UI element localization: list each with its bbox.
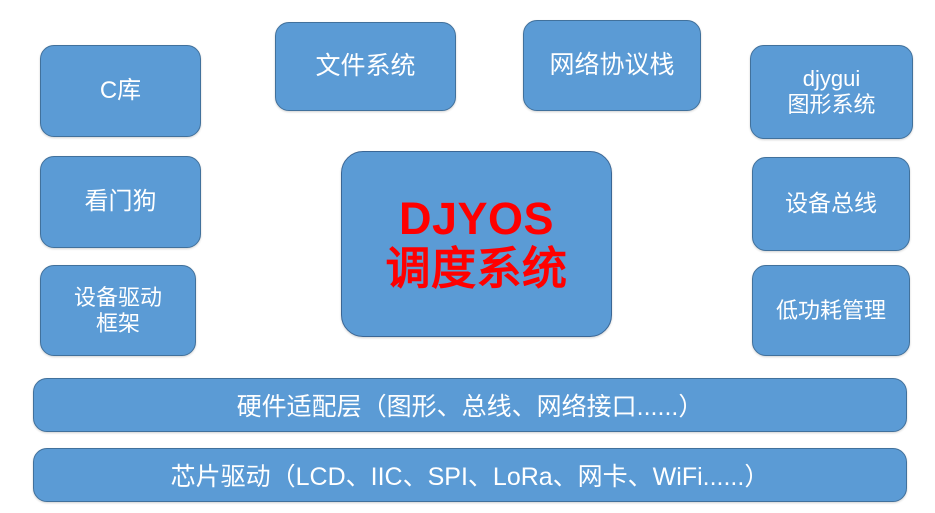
module-label: 低功耗管理 — [753, 298, 909, 324]
module-box-c-library[interactable]: C库 — [40, 45, 201, 137]
module-label: C库 — [41, 77, 200, 105]
core-title: DJYOS — [342, 194, 611, 244]
core-box-djyos-scheduler[interactable]: DJYOS 调度系统 — [341, 151, 612, 337]
module-label: 网络协议栈 — [524, 51, 700, 81]
diagram-canvas: C库 看门狗 设备驱动 框架 文件系统 网络协议栈 djygui 图形系统 设备… — [0, 0, 935, 513]
module-label: 文件系统 — [276, 52, 455, 82]
layer-label: 硬件适配层（图形、总线、网络接口......） — [237, 387, 704, 423]
layer-bar-chip-driver[interactable]: 芯片驱动（LCD、IIC、SPI、LoRa、网卡、WiFi......） — [33, 448, 907, 502]
module-box-device-bus[interactable]: 设备总线 — [752, 157, 910, 251]
module-box-low-power-management[interactable]: 低功耗管理 — [752, 265, 910, 356]
module-box-file-system[interactable]: 文件系统 — [275, 22, 456, 111]
module-label: djygui 图形系统 — [751, 66, 912, 118]
module-box-network-protocol-stack[interactable]: 网络协议栈 — [523, 20, 701, 111]
layer-bar-hardware-adaptation[interactable]: 硬件适配层（图形、总线、网络接口......） — [33, 378, 907, 432]
module-box-device-driver-framework[interactable]: 设备驱动 框架 — [40, 265, 196, 356]
core-subtitle: 调度系统 — [342, 244, 611, 294]
module-label: 设备总线 — [753, 190, 909, 217]
module-box-djygui-graphics-system[interactable]: djygui 图形系统 — [750, 45, 913, 139]
layer-label: 芯片驱动（LCD、IIC、SPI、LoRa、网卡、WiFi......） — [171, 457, 770, 493]
module-box-watchdog[interactable]: 看门狗 — [40, 156, 201, 248]
core-label-group: DJYOS 调度系统 — [342, 194, 611, 295]
module-label: 设备驱动 框架 — [41, 285, 195, 337]
module-label: 看门狗 — [41, 188, 200, 216]
